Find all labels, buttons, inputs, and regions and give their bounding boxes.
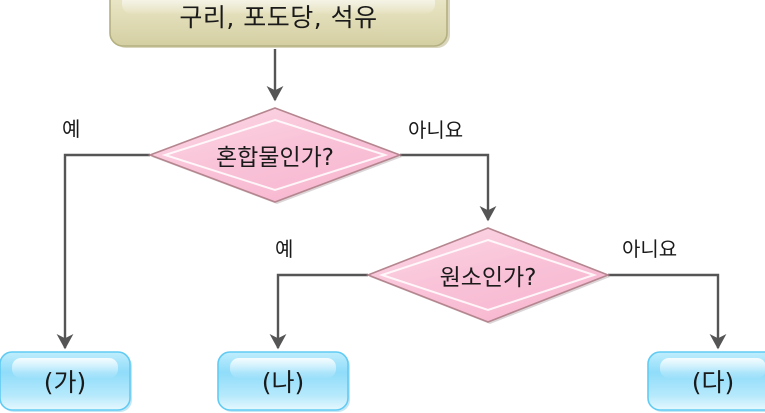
node-decision-element[interactable] (368, 228, 610, 324)
edge-label-decision2-yes: 예 (275, 233, 293, 262)
edge-label-decision1-no: 아니요 (408, 114, 463, 143)
node-result-ga[interactable] (0, 352, 132, 412)
node-start[interactable] (110, 0, 450, 48)
node-result-da[interactable] (648, 352, 765, 412)
node-layer (0, 0, 765, 413)
node-decision-mixture[interactable] (150, 108, 402, 204)
edge-label-decision2-no: 아니요 (622, 233, 677, 262)
node-result-na[interactable] (218, 352, 350, 412)
edge-label-decision1-yes: 예 (62, 113, 80, 142)
flowchart-canvas: 구리, 포도당, 석유 혼합물인가? 원소인가? (가) (나) (다) 예 아… (0, 0, 765, 413)
